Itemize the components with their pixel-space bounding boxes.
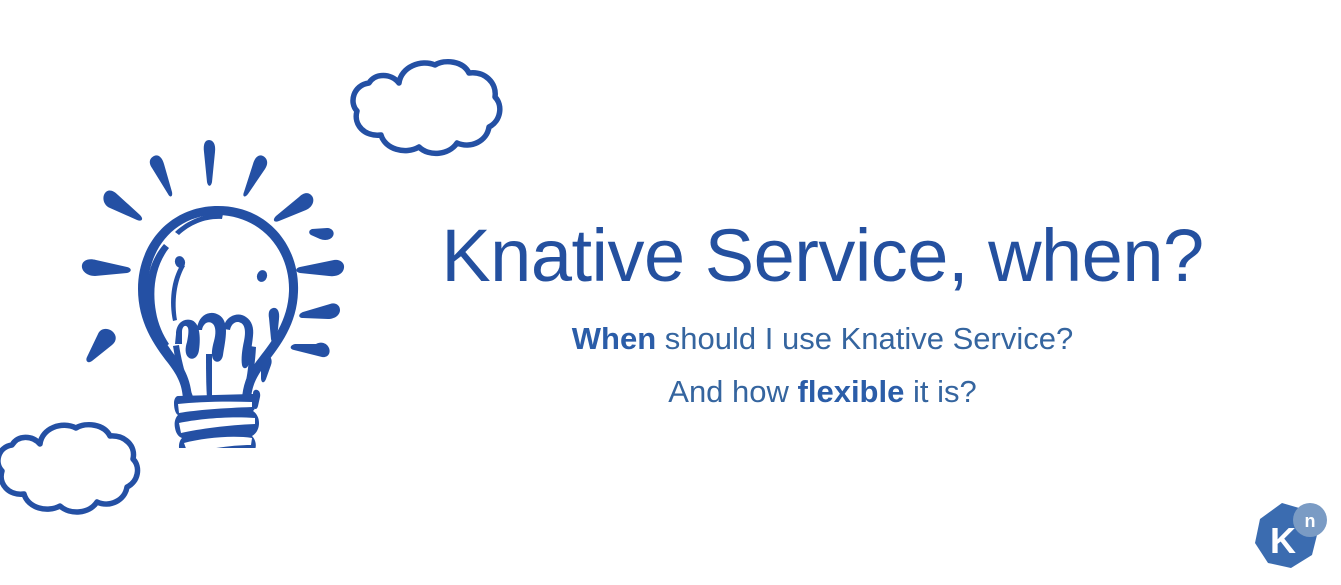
cloud-illustration-top <box>345 55 505 165</box>
lightbulb-glass <box>138 206 298 409</box>
subtitle-line-1-emphasis: When <box>572 321 656 356</box>
text-block: Knative Service, when? When should I use… <box>400 218 1245 407</box>
knative-letter-n: n <box>1305 511 1316 531</box>
subtitle-line-2-emphasis: flexible <box>798 374 905 409</box>
slide-canvas: Knative Service, when? When should I use… <box>0 0 1341 585</box>
lightbulb-illustration <box>72 118 362 448</box>
lightbulb-filament <box>173 313 256 401</box>
page-title: Knative Service, when? <box>400 218 1245 295</box>
lightbulb-base <box>174 394 259 448</box>
cloud-illustration-bottom <box>0 418 142 523</box>
subtitle-line-2-lead: And how <box>668 374 797 409</box>
lightbulb-base-stripes <box>178 402 255 448</box>
subtitle-line-2-tail: it is? <box>904 374 976 409</box>
knative-letter-k: K <box>1270 520 1296 561</box>
knative-logo: K n <box>1248 500 1330 578</box>
subtitle-line-1-rest: should I use Knative Service? <box>656 321 1073 356</box>
subtitle-line-2: And how flexible it is? <box>400 376 1245 407</box>
lightbulb-rays <box>82 140 344 362</box>
subtitle-line-1: When should I use Knative Service? <box>400 323 1245 354</box>
